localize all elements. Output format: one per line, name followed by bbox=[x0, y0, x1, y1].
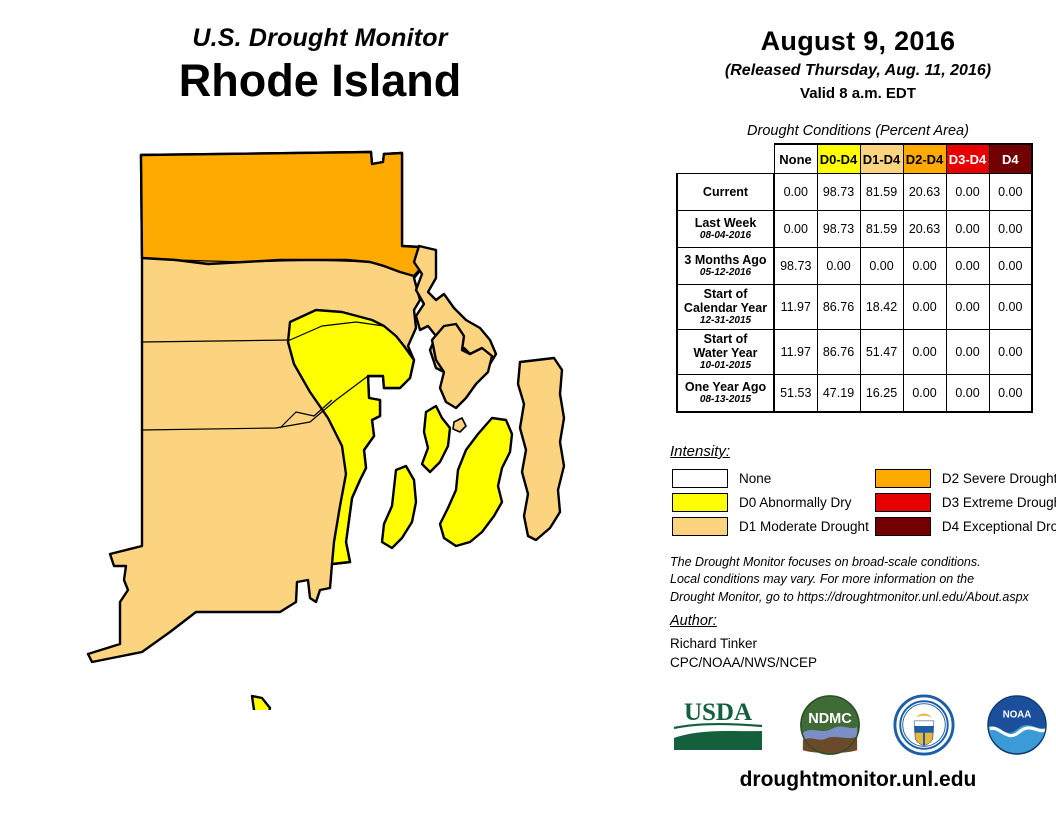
row-label-text: One Year Ago bbox=[685, 380, 766, 394]
cell-r1-c1: 98.73 bbox=[817, 211, 860, 248]
cell-r3-c3: 0.00 bbox=[903, 285, 946, 330]
disclaimer-line-3: Drought Monitor, go to https://droughtmo… bbox=[670, 589, 1056, 606]
usdc-seal-logo bbox=[893, 694, 955, 756]
map-region-block-island-d0[interactable] bbox=[242, 696, 310, 710]
cell-r4-c5: 0.00 bbox=[989, 330, 1032, 375]
table-caption: Drought Conditions (Percent Area) bbox=[660, 123, 1056, 139]
disclaimer-line-1: The Drought Monitor focuses on broad-sca… bbox=[670, 554, 1056, 571]
column-header-d0d4: D0-D4 bbox=[817, 144, 860, 174]
cell-r4-c3: 0.00 bbox=[903, 330, 946, 375]
legend-swatch-d1 bbox=[672, 517, 728, 536]
legend-item-d2[interactable]: D2 Severe Drought bbox=[875, 466, 1056, 490]
logo-row: USDA NDMC NOAA bbox=[660, 690, 1056, 760]
ndmc-logo: NDMC bbox=[799, 694, 861, 756]
cell-r0-c2: 81.59 bbox=[860, 174, 903, 211]
cell-r3-c0: 11.97 bbox=[774, 285, 817, 330]
intensity-legend: NoneD2 Severe DroughtD0 Abnormally DryD3… bbox=[672, 466, 1048, 538]
author-label: Author: bbox=[670, 613, 717, 629]
row-label-text: Last Week bbox=[695, 216, 757, 230]
row-label-4: Start ofWater Year10-01-2015 bbox=[677, 330, 774, 375]
report-valid-time: Valid 8 a.m. EDT bbox=[660, 85, 1056, 102]
cell-r3-c5: 0.00 bbox=[989, 285, 1032, 330]
legend-swatch-d4 bbox=[875, 517, 931, 536]
cell-r1-c3: 20.63 bbox=[903, 211, 946, 248]
legend-swatch-d3 bbox=[875, 493, 931, 512]
legend-label: D3 Extreme Drought bbox=[942, 495, 1056, 510]
map-region-aquidneck-island-d0[interactable] bbox=[440, 418, 512, 546]
column-header-none: None bbox=[774, 144, 817, 174]
cell-r4-c0: 11.97 bbox=[774, 330, 817, 375]
site-url[interactable]: droughtmonitor.unl.edu bbox=[660, 768, 1056, 792]
program-title: U.S. Drought Monitor bbox=[0, 24, 640, 53]
noaa-logo: NOAA bbox=[986, 694, 1048, 756]
report-date: August 9, 2016 bbox=[660, 26, 1056, 57]
cell-r2-c2: 0.00 bbox=[860, 248, 903, 285]
cell-r1-c2: 81.59 bbox=[860, 211, 903, 248]
legend-item-none[interactable]: None bbox=[672, 466, 869, 490]
cell-r1-c5: 0.00 bbox=[989, 211, 1032, 248]
drought-conditions-table: None D0-D4 D1-D4 D2-D4 D3-D4 D4 Current0… bbox=[676, 143, 1033, 413]
cell-r5-c3: 0.00 bbox=[903, 375, 946, 413]
table-row: 3 Months Ago05-12-201698.730.000.000.000… bbox=[677, 248, 1032, 285]
drought-monitor-page: U.S. Drought Monitor Rhode Island bbox=[0, 0, 1056, 816]
legend-swatch-d0 bbox=[672, 493, 728, 512]
row-label-text: Start ofCalendar Year bbox=[684, 287, 767, 315]
legend-label: D1 Moderate Drought bbox=[739, 519, 869, 534]
table-row: Last Week08-04-20160.0098.7381.5920.630.… bbox=[677, 211, 1032, 248]
cell-r5-c1: 47.19 bbox=[817, 375, 860, 413]
author-affiliation: CPC/NOAA/NWS/NCEP bbox=[670, 653, 817, 672]
table-row: One Year Ago08-13-201551.5347.1916.250.0… bbox=[677, 375, 1032, 413]
rhode-island-drought-map[interactable] bbox=[84, 150, 604, 710]
cell-r0-c4: 0.00 bbox=[946, 174, 989, 211]
map-region-northern-d2[interactable] bbox=[141, 152, 427, 276]
report-released: (Released Thursday, Aug. 11, 2016) bbox=[660, 62, 1056, 80]
author-name: Richard Tinker bbox=[670, 634, 817, 653]
legend-label: None bbox=[739, 471, 771, 486]
legend-item-d0[interactable]: D0 Abnormally Dry bbox=[672, 490, 869, 514]
svg-text:NOAA: NOAA bbox=[1003, 709, 1031, 720]
svg-text:USDA: USDA bbox=[684, 699, 752, 726]
title-block: U.S. Drought Monitor Rhode Island bbox=[0, 24, 640, 105]
legend-label: D2 Severe Drought bbox=[942, 471, 1056, 486]
table-row: Start ofWater Year10-01-201511.9786.7651… bbox=[677, 330, 1032, 375]
cell-r3-c1: 86.76 bbox=[817, 285, 860, 330]
table-body: Current0.0098.7381.5920.630.000.00Last W… bbox=[677, 174, 1032, 413]
cell-r4-c1: 86.76 bbox=[817, 330, 860, 375]
cell-r2-c0: 98.73 bbox=[774, 248, 817, 285]
cell-r4-c4: 0.00 bbox=[946, 330, 989, 375]
cell-r2-c4: 0.00 bbox=[946, 248, 989, 285]
legend-swatch-d2 bbox=[875, 469, 931, 488]
row-label-0: Current bbox=[677, 174, 774, 211]
row-label-text: Start ofWater Year bbox=[694, 332, 758, 360]
legend-item-d4[interactable]: D4 Exceptional Drought bbox=[875, 514, 1056, 538]
cell-r2-c1: 0.00 bbox=[817, 248, 860, 285]
cell-r5-c4: 0.00 bbox=[946, 375, 989, 413]
cell-r1-c0: 0.00 bbox=[774, 211, 817, 248]
row-label-2: 3 Months Ago05-12-2016 bbox=[677, 248, 774, 285]
map-region-prudence-island-d0[interactable] bbox=[422, 406, 450, 472]
report-header: August 9, 2016 (Released Thursday, Aug. … bbox=[660, 26, 1056, 102]
legend-label: D4 Exceptional Drought bbox=[942, 519, 1056, 534]
cell-r2-c3: 0.00 bbox=[903, 248, 946, 285]
legend-title: Intensity: bbox=[670, 443, 730, 460]
row-label-date: 12-31-2015 bbox=[678, 315, 773, 326]
svg-text:NDMC: NDMC bbox=[809, 711, 853, 727]
cell-r4-c2: 51.47 bbox=[860, 330, 903, 375]
cell-r0-c0: 0.00 bbox=[774, 174, 817, 211]
row-label-date: 05-12-2016 bbox=[678, 267, 773, 278]
map-region-conanicut-island-d0[interactable] bbox=[382, 466, 416, 548]
column-header-d3d4: D3-D4 bbox=[946, 144, 989, 174]
cell-r5-c2: 16.25 bbox=[860, 375, 903, 413]
map-region-little-compton-d1[interactable] bbox=[518, 358, 564, 540]
row-label-date: 08-13-2015 bbox=[678, 394, 773, 405]
row-label-text: 3 Months Ago bbox=[684, 253, 766, 267]
row-label-date: 10-01-2015 bbox=[678, 360, 773, 371]
legend-item-d3[interactable]: D3 Extreme Drought bbox=[875, 490, 1056, 514]
author-block: Richard Tinker CPC/NOAA/NWS/NCEP bbox=[670, 634, 817, 672]
cell-r2-c5: 0.00 bbox=[989, 248, 1032, 285]
usda-logo: USDA bbox=[668, 694, 768, 756]
disclaimer-note: The Drought Monitor focuses on broad-sca… bbox=[670, 554, 1056, 606]
cell-r5-c5: 0.00 bbox=[989, 375, 1032, 413]
column-header-d4: D4 bbox=[989, 144, 1032, 174]
page-title: Rhode Island bbox=[0, 57, 640, 105]
cell-r0-c5: 0.00 bbox=[989, 174, 1032, 211]
cell-r0-c1: 98.73 bbox=[817, 174, 860, 211]
column-header-d2d4: D2-D4 bbox=[903, 144, 946, 174]
cell-r5-c0: 51.53 bbox=[774, 375, 817, 413]
cell-r3-c2: 18.42 bbox=[860, 285, 903, 330]
table-row: Start ofCalendar Year12-31-201511.9786.7… bbox=[677, 285, 1032, 330]
row-label-date: 08-04-2016 bbox=[678, 230, 773, 241]
cell-r1-c4: 0.00 bbox=[946, 211, 989, 248]
legend-item-d1[interactable]: D1 Moderate Drought bbox=[672, 514, 869, 538]
table-corner-cell bbox=[677, 144, 774, 174]
row-label-1: Last Week08-04-2016 bbox=[677, 211, 774, 248]
legend-swatch-none bbox=[672, 469, 728, 488]
row-label-5: One Year Ago08-13-2015 bbox=[677, 375, 774, 413]
table-row: Current0.0098.7381.5920.630.000.00 bbox=[677, 174, 1032, 211]
cell-r0-c3: 20.63 bbox=[903, 174, 946, 211]
map-region-bay-islet bbox=[453, 418, 466, 432]
cell-r3-c4: 0.00 bbox=[946, 285, 989, 330]
disclaimer-line-2: Local conditions may vary. For more info… bbox=[670, 571, 1056, 588]
legend-label: D0 Abnormally Dry bbox=[739, 495, 852, 510]
row-label-text: Current bbox=[703, 185, 748, 199]
column-header-d1d4: D1-D4 bbox=[860, 144, 903, 174]
row-label-3: Start ofCalendar Year12-31-2015 bbox=[677, 285, 774, 330]
table-header-row: None D0-D4 D1-D4 D2-D4 D3-D4 D4 bbox=[677, 144, 1032, 174]
